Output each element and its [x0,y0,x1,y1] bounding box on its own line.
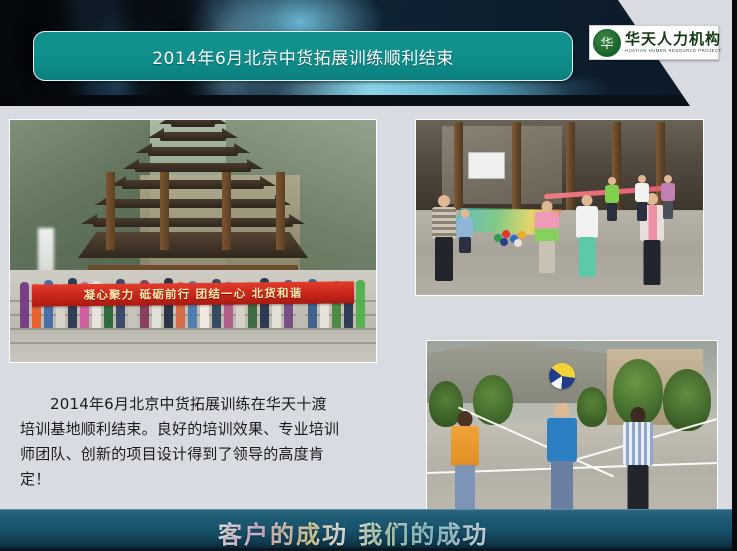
person-figure [534,201,560,273]
person-figure [634,175,650,221]
tree [577,387,607,427]
equipment-balls [494,230,530,244]
photo-content [416,120,703,295]
logo-name-chinese: 华天人力机构 [625,32,722,47]
banner-slogan: 凝心聚力 砥砺前行 团结一心 北货和谐 [84,285,303,303]
person-figure [604,177,620,221]
group-photo-temple: 凝心聚力 砥砺前行 团结一心 北货和谐 [9,119,377,363]
logo-seal-icon: 华 [593,29,621,57]
photo-content [427,341,717,517]
person-figure [621,407,655,513]
outdoor-activity-photo [415,119,704,296]
company-logo: 华 华天人力机构 HUATIAN HUMEN RESOURCE PROJECT [589,25,719,60]
person-figure [449,411,481,511]
volleyball [549,363,575,389]
header-bottom-edge [0,95,700,106]
slide-title-banner: 2014年6月北京中货拓展训练顺利结束 [33,31,573,81]
footer-slogan: 客户的成功 我们的成功 [218,515,488,550]
presentation-slide: 2014年6月北京中货拓展训练顺利结束 华 华天人力机构 HUATIAN HUM… [0,0,737,551]
volleyball-team-photo [426,340,718,518]
team-banner: 凝心聚力 砥砺前行 团结一心 北货和谐 [32,281,354,306]
slide-body-paragraph: 2014年6月北京中货拓展训练在华天十渡培训基地顺利结束。良好的培训效果、专业培… [20,392,340,492]
person-figure [574,195,600,277]
logo-seal-glyph: 华 [594,30,620,56]
logo-text-block: 华天人力机构 HUATIAN HUMEN RESOURCE PROJECT [625,32,722,53]
person-figure [456,209,474,253]
person-figure [660,175,676,219]
slide-footer: 客户的成功 我们的成功 [0,509,737,551]
person-figure [430,195,458,281]
logo-name-english: HUATIAN HUMEN RESOURCE PROJECT [625,49,722,53]
whiteboard [468,152,505,179]
page-title: 2014年6月北京中货拓展训练顺利结束 [152,44,454,69]
photo-content: 凝心聚力 砥砺前行 团结一心 北货和谐 [10,120,376,362]
person-figure [545,403,579,511]
